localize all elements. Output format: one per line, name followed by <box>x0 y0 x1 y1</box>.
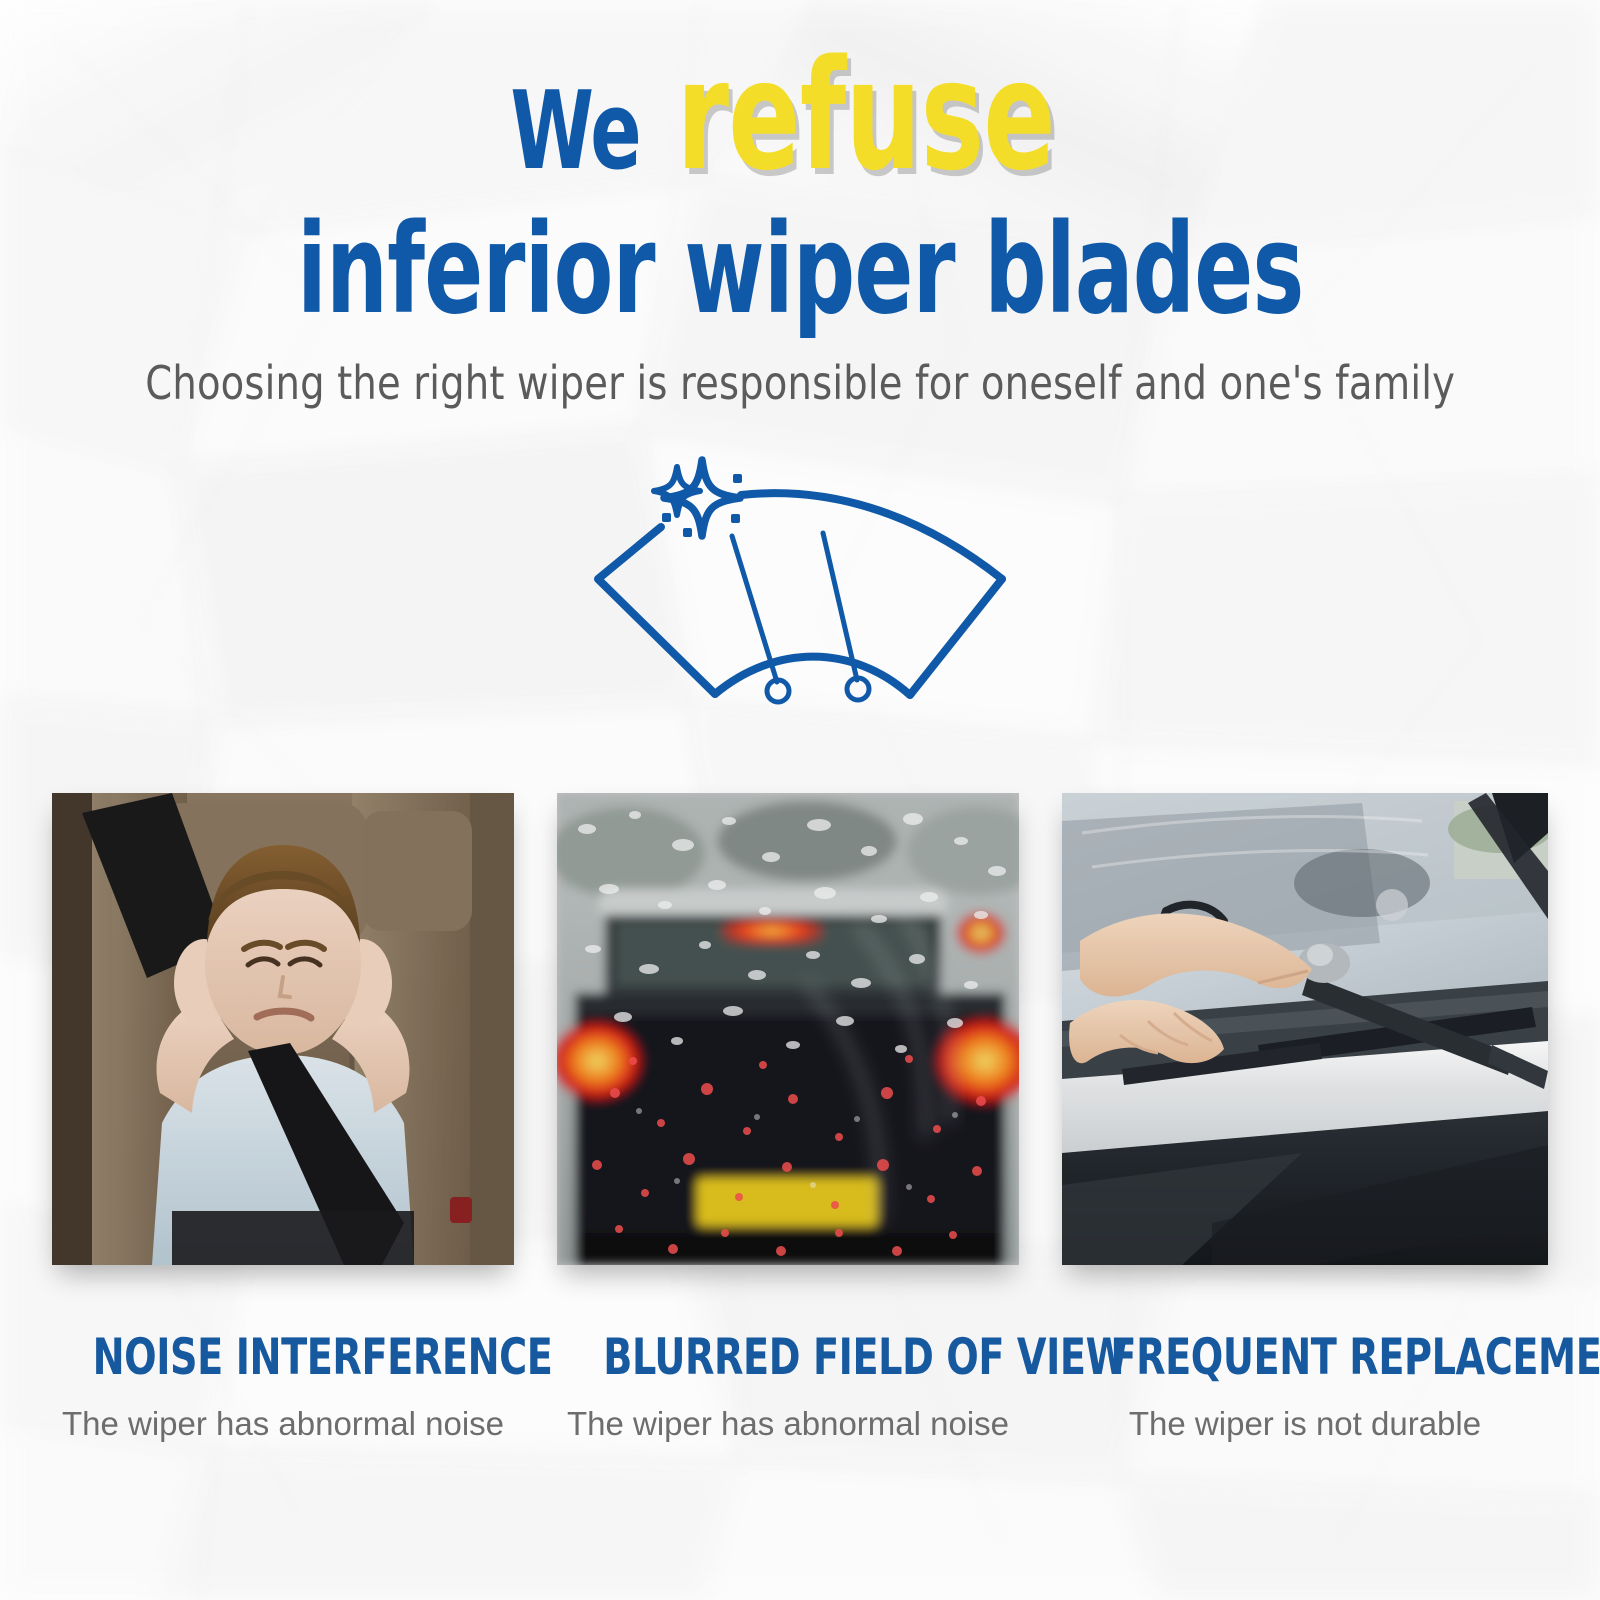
headline-word-we: We <box>510 78 640 186</box>
card-title-text: NOISE INTERFERENCE <box>93 1331 553 1383</box>
card-caption-noise-interference: The wiper has abnormal noise <box>52 1405 514 1443</box>
card-title-frequent-replacement: FREQUENT REPLACEMENT <box>1062 1331 1548 1383</box>
photo-hand-replacing-wiper-blade <box>1062 793 1548 1265</box>
issue-card-frequent-replacement: FREQUENT REPLACEMENT The wiper is not du… <box>1062 793 1548 1443</box>
issue-cards-row: NOISE INTERFERENCE The wiper has abnorma… <box>52 793 1548 1443</box>
headline-line-1: Werefuse <box>0 62 1600 186</box>
card-caption-blurred-field-of-view: The wiper has abnormal noise <box>557 1405 1019 1443</box>
card-title-text: FREQUENT REPLACEMENT <box>1110 1331 1600 1383</box>
card-caption-frequent-replacement: The wiper is not durable <box>1062 1405 1548 1443</box>
headline-line-2-text: inferior wiper blades <box>297 208 1304 332</box>
subtitle-text: Choosing the right wiper is responsible … <box>145 356 1455 410</box>
photo-rainy-windshield-traffic <box>557 793 1019 1265</box>
card-title-blurred-field-of-view: BLURRED FIELD OF VIEW <box>557 1331 1019 1383</box>
issue-card-blurred-field-of-view: BLURRED FIELD OF VIEW The wiper has abno… <box>557 793 1019 1443</box>
issue-card-noise-interference: NOISE INTERFERENCE The wiper has abnorma… <box>52 793 514 1443</box>
headline-line-2: inferior wiper blades <box>0 208 1600 332</box>
card-title-noise-interference: NOISE INTERFERENCE <box>52 1331 514 1383</box>
subtitle: Choosing the right wiper is responsible … <box>0 356 1600 410</box>
photo-child-covering-ears <box>52 793 514 1265</box>
card-title-text: BLURRED FIELD OF VIEW <box>603 1331 1127 1383</box>
headline-word-refuse: refuse <box>676 62 1055 170</box>
windshield-wiper-sparkle-icon <box>565 448 1035 708</box>
